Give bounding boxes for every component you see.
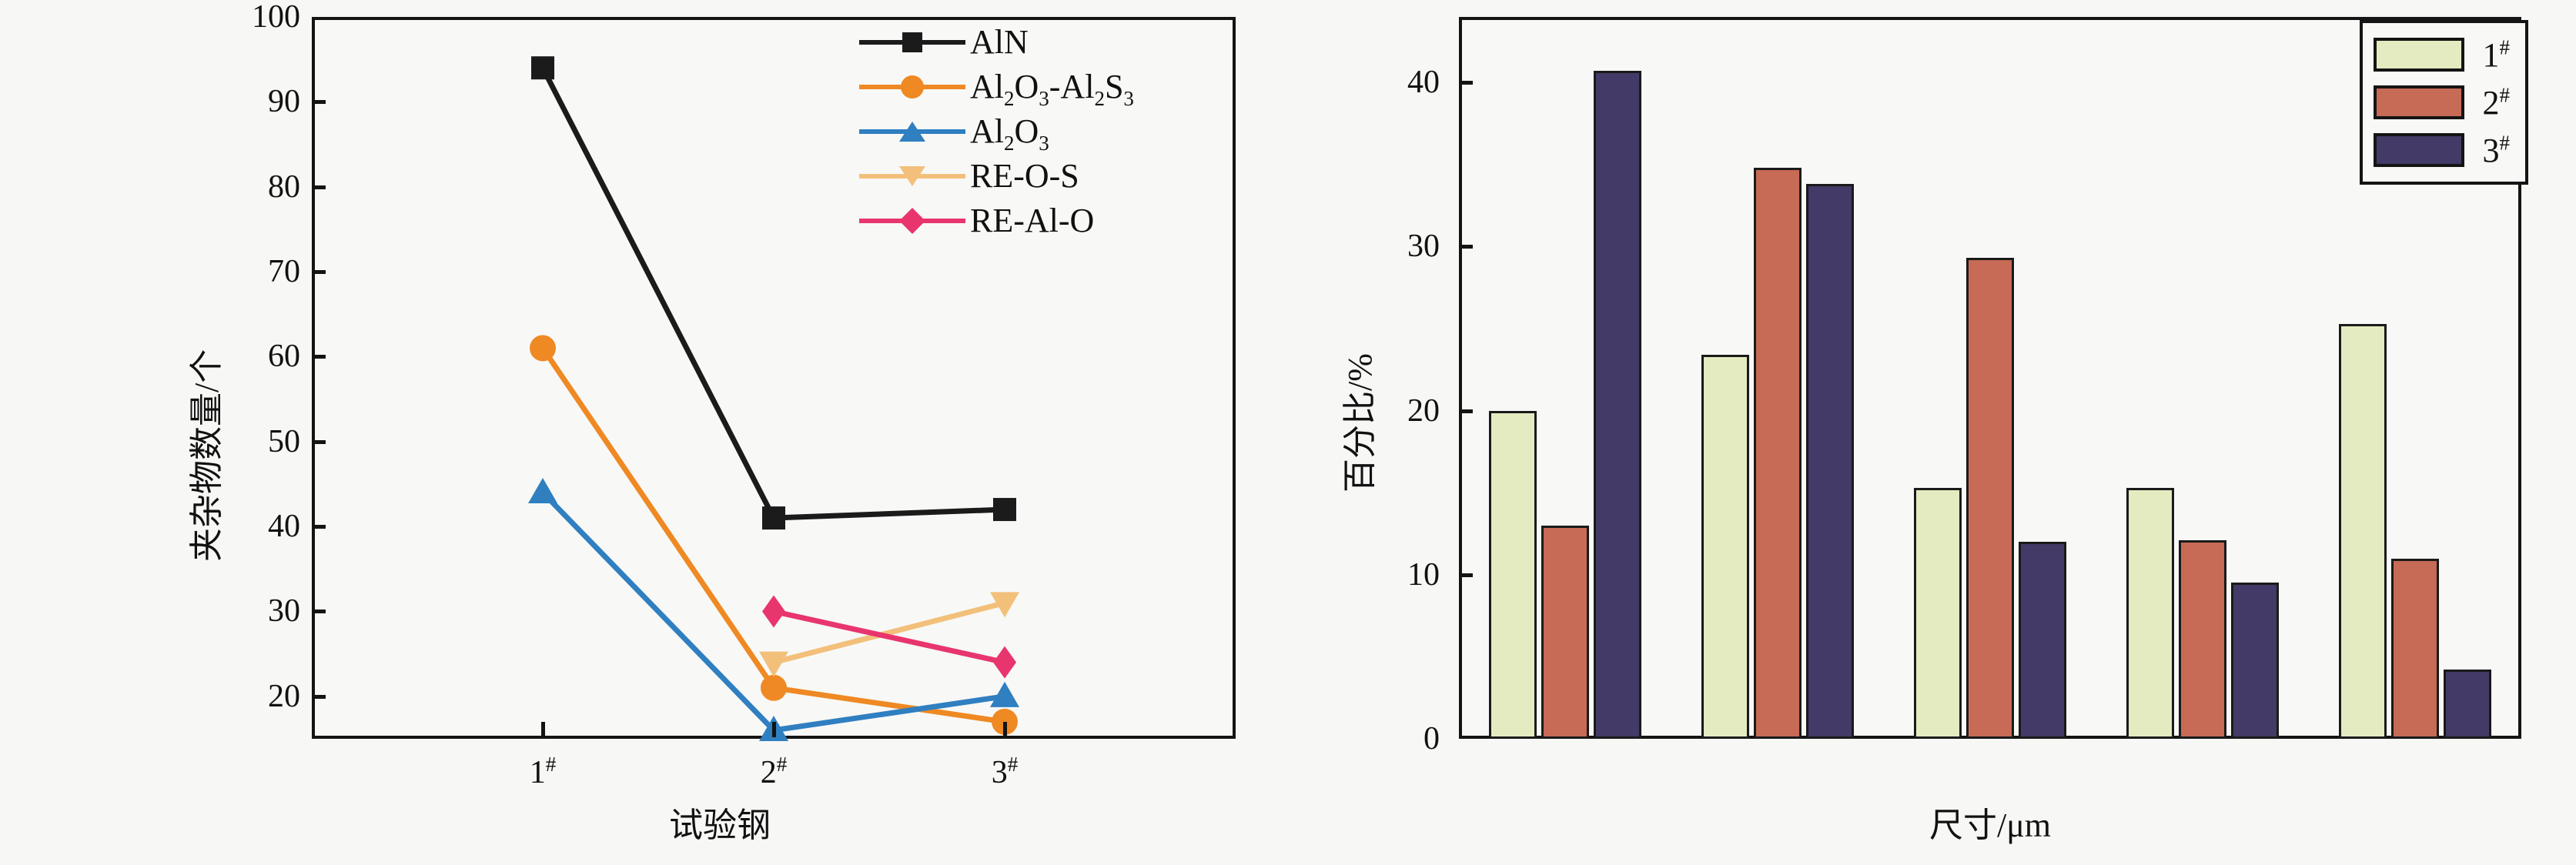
y-tick-label: 40 [1340,64,1440,101]
y-tick-label: 10 [1340,556,1440,593]
legend-item-re-o-s[interactable]: RE-O-S [855,154,1224,199]
y-tick-mark [312,185,326,189]
y-tick-mark [1459,81,1473,85]
bar [2444,670,2491,739]
bar [2126,488,2174,739]
y-tick-mark [312,355,326,359]
bar [1914,488,1962,739]
y-tick-label: 90 [196,83,300,120]
y-tick-mark [312,440,326,444]
legend-item-al2o3[interactable]: Al2O3 [855,109,1224,154]
y-tick-mark [312,525,326,529]
bar [1594,71,1641,739]
bar [1701,355,1749,739]
legend-label: RE-O-S [970,159,1079,193]
bar [2339,324,2387,739]
y-tick-mark [1459,409,1473,413]
bar [1541,526,1589,739]
data-point-marker [531,56,554,79]
legend-symbol-icon [855,20,970,65]
data-point-marker [993,498,1016,521]
legend-symbol-icon [855,109,970,154]
legend-item-re-al-o[interactable]: RE-Al-O [855,199,1224,243]
legend-symbol-icon [855,65,970,109]
chart-panel-b: (b) 010203040 ≤22~33~44~5≥5 尺寸/μm 百分比/% … [1278,0,2576,865]
figure-root: (a) 2030405060708090100 1#2#3# 试验钢 夹杂物数量… [0,0,2576,865]
bar [2391,559,2439,740]
x-tick-label: 3# [992,753,1019,791]
legend-color-swatch [2374,85,2464,119]
legend-label: RE-Al-O [970,204,1094,238]
y-tick-label: 30 [1340,228,1440,265]
y-tick-mark [312,100,326,104]
x-tick-label: 2# [761,753,788,791]
data-point-marker [761,675,787,701]
data-point-marker [762,506,785,529]
y-tick-label: 30 [196,593,300,630]
legend-a: AlNAl2O3-Al2S3Al2O3RE-O-SRE-Al-O [855,20,1224,243]
bar [1754,168,1802,739]
legend-color-swatch [2374,133,2464,167]
legend-label: 3# [2483,131,2511,170]
x-tick-mark [1003,722,1007,737]
bar [2179,540,2226,739]
y-tick-label: 80 [196,169,300,205]
bar [2231,583,2279,739]
legend-label: AlN [970,25,1029,59]
y-tick-label: 70 [196,253,300,290]
bar [1966,258,2014,739]
y-tick-mark [1459,573,1473,577]
x-tick-label: 1# [530,753,557,791]
y-tick-label: 20 [196,678,300,715]
legend-item-2-hash[interactable]: 2# [2374,78,2511,126]
legend-item-3-hash[interactable]: 3# [2374,126,2511,174]
data-point-marker [530,335,556,361]
data-point-marker [762,595,785,627]
y-tick-label: 100 [196,0,300,35]
legend-item-aln[interactable]: AlN [855,20,1224,65]
bar [1489,411,1537,739]
data-point-marker [990,682,1019,707]
x-tick-mark [772,722,776,737]
y-tick-mark [312,610,326,613]
data-point-marker [528,478,557,503]
y-tick-mark [1459,245,1473,249]
bar [2019,542,2066,739]
x-tick-mark [541,722,545,737]
data-point-marker [993,646,1016,679]
y-axis-title-a: 夹杂物数量/个 [179,349,228,562]
legend-b: 1#2#3# [2360,20,2529,185]
y-tick-mark [312,270,326,274]
x-axis-title-b: 尺寸/μm [1929,797,2051,847]
chart-panel-a: (a) 2030405060708090100 1#2#3# 试验钢 夹杂物数量… [0,0,1278,865]
legend-symbol-icon [855,199,970,243]
bar [1806,184,1854,739]
legend-label: 1# [2483,35,2511,75]
legend-item-1-hash[interactable]: 1# [2374,31,2511,78]
y-tick-mark [312,695,326,699]
legend-symbol-icon [855,154,970,199]
y-tick-label: 0 [1340,720,1440,757]
x-axis-title-a: 试验钢 [669,797,771,847]
y-axis-title-b: 百分比/% [1332,353,1381,493]
legend-label: Al2O3 [970,115,1049,149]
legend-item-al2o3-al2s3[interactable]: Al2O3-Al2S3 [855,65,1224,109]
legend-label: 2# [2483,83,2511,122]
legend-label: Al2O3-Al2S3 [970,70,1134,104]
legend-color-swatch [2374,38,2464,72]
